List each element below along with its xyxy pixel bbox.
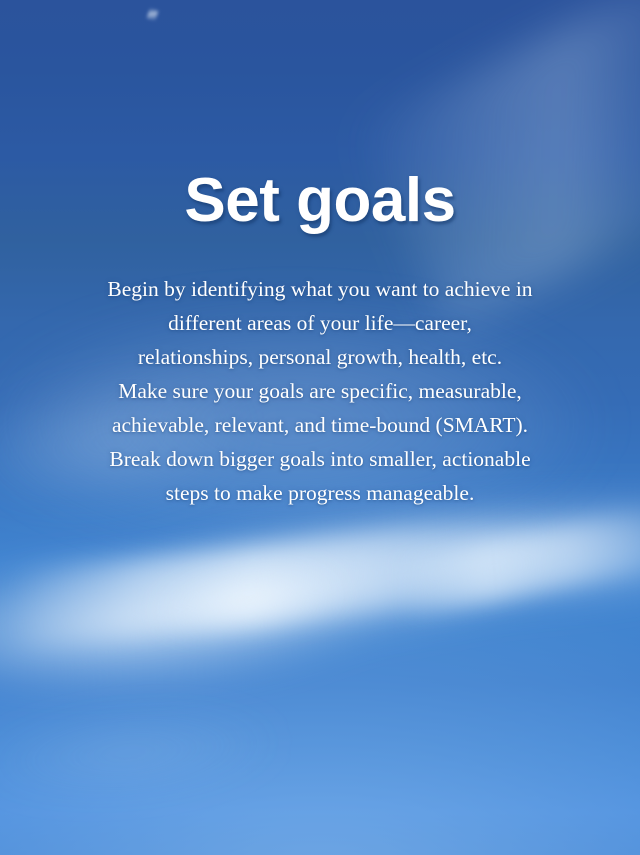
body-line: steps to make progress manageable.: [25, 476, 615, 510]
poster-body-text: Begin by identifying what you want to ac…: [25, 272, 615, 510]
poster-content: Set goals Begin by identifying what you …: [0, 0, 640, 855]
body-line: different areas of your life—career,: [25, 306, 615, 340]
body-line: achievable, relevant, and time-bound (SM…: [25, 408, 615, 442]
poster-canvas: Set goals Begin by identifying what you …: [0, 0, 640, 855]
body-line: relationships, personal growth, health, …: [25, 340, 615, 374]
page-title: Set goals: [184, 166, 455, 236]
body-line: Make sure your goals are specific, measu…: [25, 374, 615, 408]
body-line: Break down bigger goals into smaller, ac…: [25, 442, 615, 476]
body-line: Begin by identifying what you want to ac…: [25, 272, 615, 306]
